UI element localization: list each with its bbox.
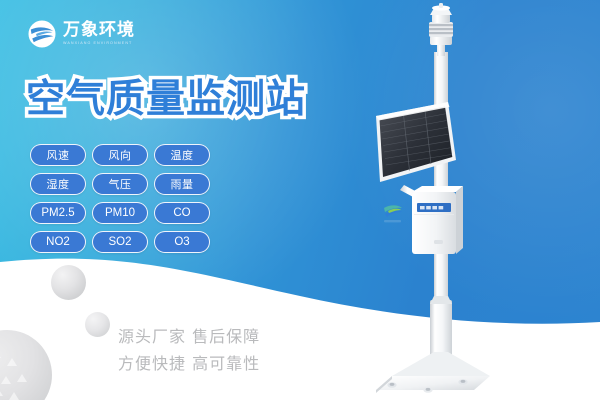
sphere-small-decor (85, 312, 110, 337)
globe-swoosh-logo-icon (27, 19, 57, 49)
banner-root: 万象环境 WANXIANG ENVIRONMENT 空气质量监测站 风速 风向 … (0, 0, 600, 400)
tag-no2[interactable]: NO2 (30, 231, 86, 253)
base-plate-icon (376, 352, 490, 393)
tag-pm10[interactable]: PM10 (92, 202, 148, 224)
logo-company-en: WANXIANG ENVIRONMENT (63, 42, 136, 46)
tag-pm25[interactable]: PM2.5 (30, 202, 86, 224)
monitoring-station-illustration (330, 0, 600, 400)
control-enclosure-icon (412, 186, 463, 254)
brand-logo: 万象环境 WANXIANG ENVIRONMENT (27, 19, 135, 49)
logo-company-cn: 万象环境 (63, 22, 135, 39)
slogan-line-2: 方便快捷 高可靠性 (118, 350, 260, 377)
slogan-line-1: 源头厂家 售后保障 (118, 323, 260, 350)
tag-o3[interactable]: O3 (154, 231, 210, 253)
tag-shidu[interactable]: 湿度 (30, 173, 86, 195)
tag-wendu[interactable]: 温度 (154, 144, 210, 166)
box-side-watermark-logo-icon (383, 202, 402, 222)
parameter-tag-grid: 风速 风向 温度 湿度 气压 雨量 PM2.5 PM10 CO NO2 SO2 … (30, 144, 210, 253)
tag-co[interactable]: CO (154, 202, 210, 224)
slogan-block: 源头厂家 售后保障 方便快捷 高可靠性 (118, 323, 260, 377)
tag-fengsu[interactable]: 风速 (30, 144, 86, 166)
page-title: 空气质量监测站 (26, 68, 306, 124)
sphere-medium-decor (51, 265, 86, 300)
tag-yuliang[interactable]: 雨量 (154, 173, 210, 195)
tag-qiya[interactable]: 气压 (92, 173, 148, 195)
ultrasonic-weather-sensor-icon (429, 3, 453, 56)
tag-so2[interactable]: SO2 (92, 231, 148, 253)
tag-fengxiang[interactable]: 风向 (92, 144, 148, 166)
